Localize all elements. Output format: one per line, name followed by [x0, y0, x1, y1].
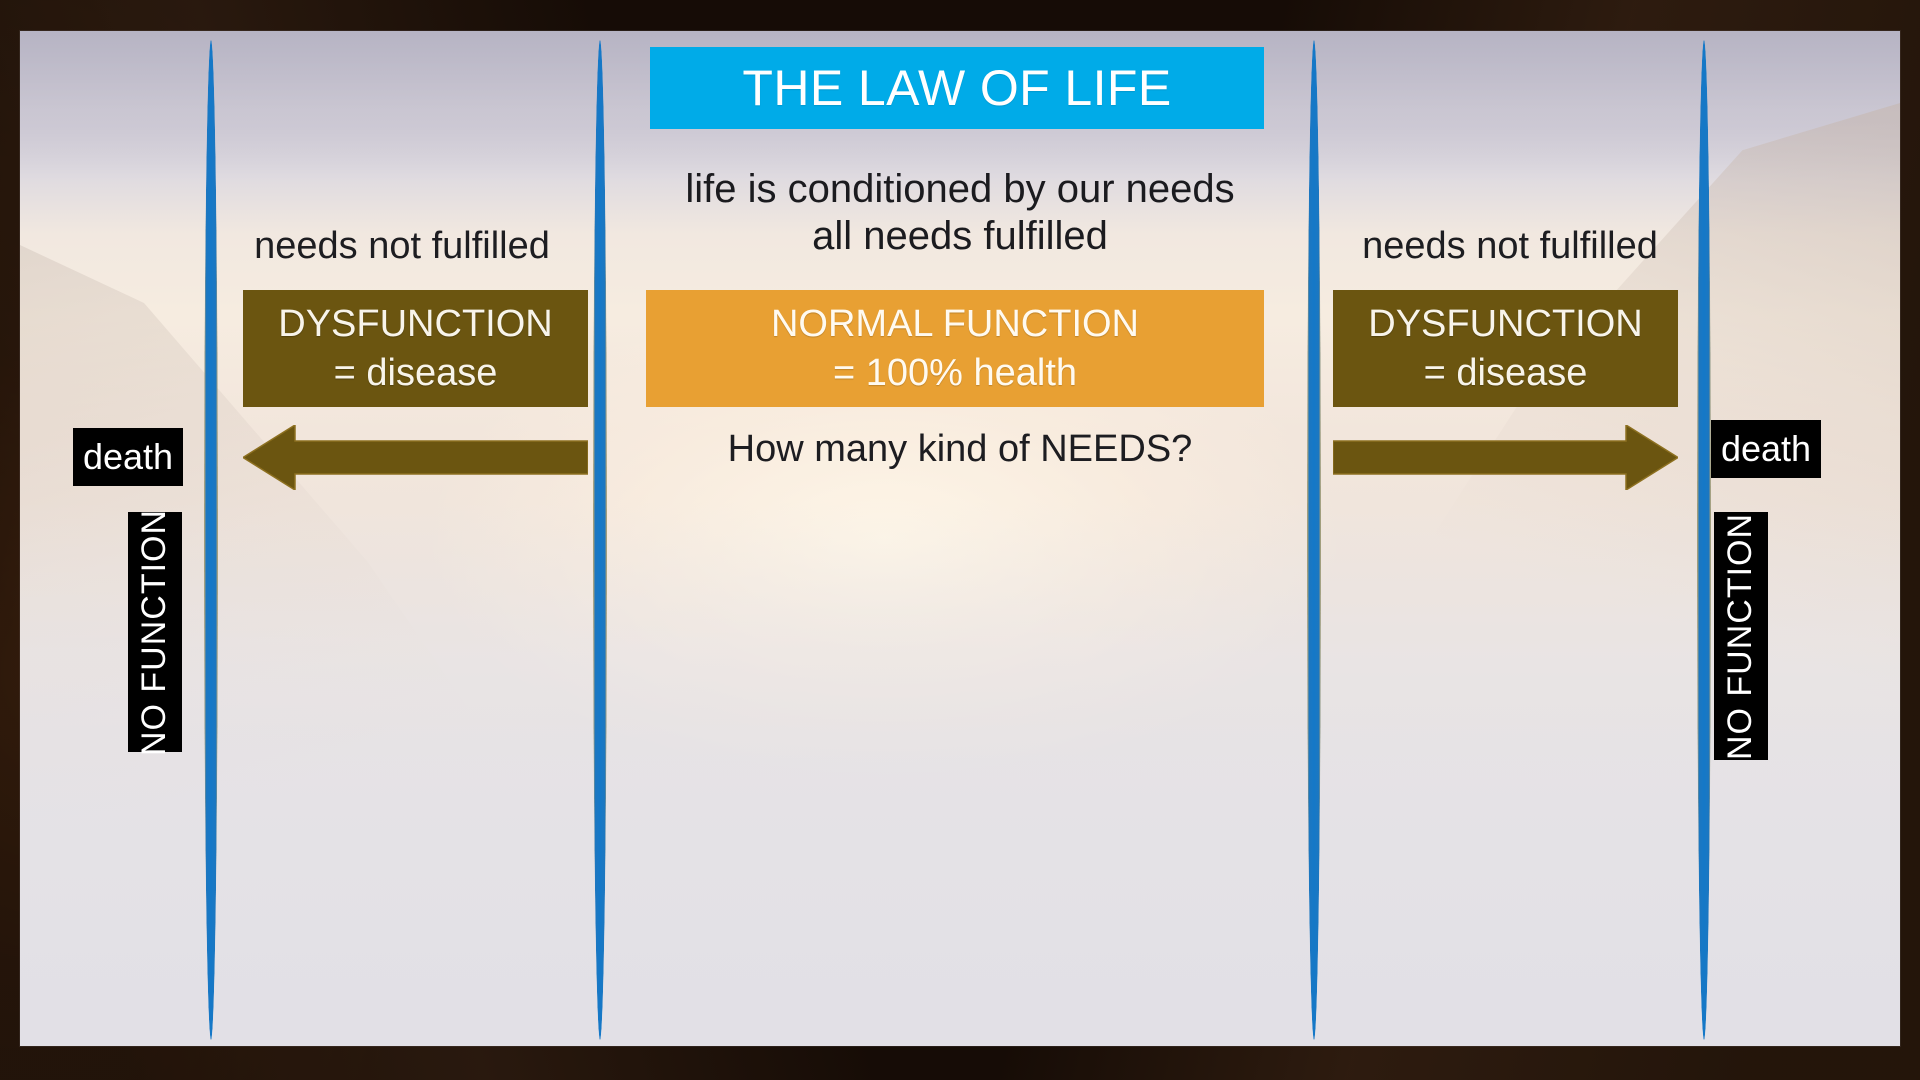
needs-question: How many kind of NEEDS?	[640, 428, 1280, 471]
left-dysfunction-subtitle: = disease	[334, 349, 498, 398]
arrow-right	[1333, 425, 1678, 490]
divider-center-right	[1307, 40, 1321, 1040]
center-subtitle-line-1: life is conditioned by our needs	[640, 166, 1280, 213]
divider-center-left	[593, 40, 607, 1040]
left-no-function-label: NO FUNCTION	[128, 512, 182, 752]
left-dysfunction-box: DYSFUNCTION = disease	[243, 290, 588, 407]
left-death-label: death	[73, 428, 183, 486]
right-dysfunction-title: DYSFUNCTION	[1368, 300, 1642, 349]
left-dysfunction-title: DYSFUNCTION	[278, 300, 552, 349]
slide-canvas: THE LAW OF LIFE life is conditioned by o…	[0, 0, 1920, 1080]
left-caption: needs not fulfilled	[212, 225, 592, 268]
right-caption: needs not fulfilled	[1320, 225, 1700, 268]
normal-function-box: NORMAL FUNCTION = 100% health	[646, 290, 1264, 407]
page-title: THE LAW OF LIFE	[650, 47, 1264, 129]
panel-mist	[20, 501, 1900, 1046]
center-subtitle-line-2: all needs fulfilled	[640, 213, 1280, 260]
divider-far-left	[204, 40, 218, 1040]
left-no-function-text: NO FUNCTION	[136, 508, 175, 755]
right-death-label: death	[1711, 420, 1821, 478]
right-dysfunction-box: DYSFUNCTION = disease	[1333, 290, 1678, 407]
right-no-function-text: NO FUNCTION	[1722, 512, 1761, 759]
divider-far-right	[1697, 40, 1711, 1040]
right-no-function-label: NO FUNCTION	[1714, 512, 1768, 760]
arrow-left	[243, 425, 588, 490]
center-subtitle: life is conditioned by our needs all nee…	[640, 166, 1280, 260]
right-dysfunction-subtitle: = disease	[1424, 349, 1588, 398]
normal-function-title: NORMAL FUNCTION	[771, 300, 1139, 349]
normal-function-subtitle: = 100% health	[833, 349, 1077, 398]
